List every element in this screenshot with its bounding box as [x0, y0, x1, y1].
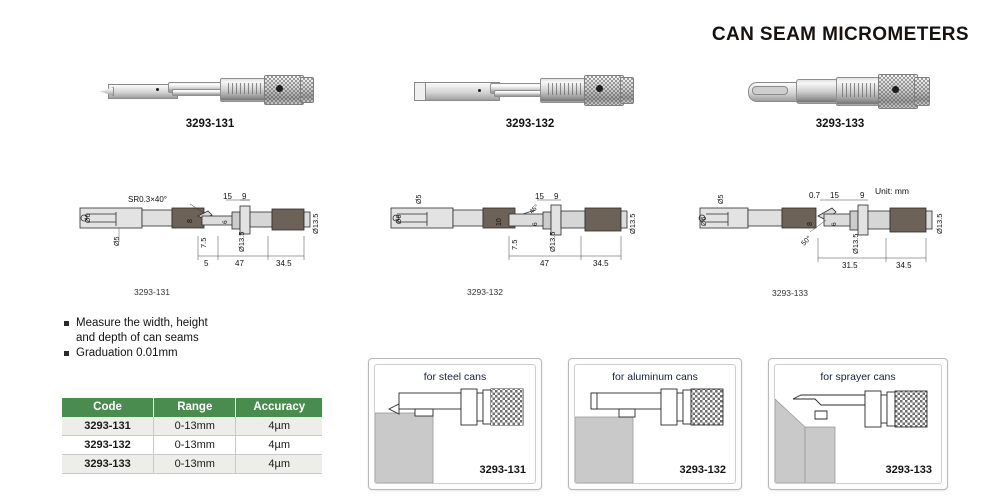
svg-text:7.5: 7.5: [510, 240, 519, 250]
technical-drawing-3293-133: Ø6 Ø5 0.7 15 9 31.5 34.5 8: [690, 186, 955, 298]
feature-text-line2: and depth of can seams: [76, 331, 312, 346]
svg-text:Ø13.5: Ø13.5: [628, 214, 637, 234]
svg-text:SR0.3×40°: SR0.3×40°: [128, 195, 167, 204]
cell-code: 3293-133: [62, 455, 154, 474]
svg-text:45°: 45°: [528, 203, 541, 216]
unit-note: Unit: mm: [875, 186, 909, 196]
cell-code: 3293-131: [62, 417, 154, 436]
application-panel-steel-cans: for steel cans: [368, 358, 542, 490]
feature-text: Graduation 0.01mm: [76, 347, 178, 359]
technical-drawing-3293-132: Ø6 Ø5 15 9 47 34.5 10 7.5 45°: [385, 190, 640, 297]
column-header-range: Range: [154, 398, 236, 417]
svg-text:Ø13.5: Ø13.5: [935, 214, 944, 234]
specification-table: Code Range Accuracy 3293-131 0-13mm 4µm …: [62, 398, 322, 474]
svg-text:Ø13.5: Ø13.5: [311, 214, 320, 234]
cell-range: 0-13mm: [154, 455, 236, 474]
svg-text:0.7: 0.7: [809, 191, 821, 200]
table-row: 3293-131 0-13mm 4µm: [62, 417, 322, 436]
svg-text:34.5: 34.5: [896, 261, 912, 270]
cell-accuracy: 4µm: [236, 455, 322, 474]
svg-text:Ø6: Ø6: [701, 217, 708, 226]
svg-text:8: 8: [807, 222, 814, 226]
svg-text:6: 6: [532, 222, 539, 226]
svg-text:5: 5: [204, 259, 209, 268]
column-header-code: Code: [62, 398, 154, 417]
cell-accuracy: 4µm: [236, 436, 322, 455]
cell-accuracy: 4µm: [236, 417, 322, 436]
svg-text:7.5: 7.5: [199, 238, 208, 248]
page-title: CAN SEAM MICROMETERS: [712, 24, 969, 46]
svg-text:10: 10: [496, 218, 503, 226]
svg-text:Ø13.5: Ø13.5: [237, 232, 246, 252]
svg-text:Ø5: Ø5: [416, 195, 423, 204]
svg-text:Ø13.5: Ø13.5: [548, 232, 557, 252]
svg-text:9: 9: [860, 191, 865, 200]
catalog-page: CAN SEAM MICROMETERS 3293-131: [0, 0, 987, 497]
svg-text:15: 15: [830, 191, 839, 200]
panel-code: 3293-131: [480, 464, 527, 476]
panel-code: 3293-133: [886, 464, 933, 476]
svg-text:9: 9: [554, 192, 559, 201]
bullet-icon: [64, 321, 69, 326]
svg-text:34.5: 34.5: [276, 259, 292, 268]
product-photo-3293-133: [690, 58, 987, 148]
table-row: 3293-133 0-13mm 4µm: [62, 455, 322, 474]
feature-item: Measure the width, height and depth of c…: [62, 316, 312, 345]
table-header-row: Code Range Accuracy: [62, 398, 322, 417]
panel-code: 3293-132: [680, 464, 727, 476]
feature-text: Measure the width, height: [76, 317, 208, 329]
product-photo-3293-131: [60, 58, 360, 148]
panel-title: for aluminum cans: [575, 371, 735, 383]
svg-text:Ø6: Ø6: [396, 215, 403, 224]
column-header-accuracy: Accuracy: [236, 398, 322, 417]
svg-text:34.5: 34.5: [593, 259, 609, 268]
product-photo-3293-132: [380, 58, 680, 148]
svg-text:50°: 50°: [800, 234, 813, 247]
cell-code: 3293-132: [62, 436, 154, 455]
cell-range: 0-13mm: [154, 417, 236, 436]
svg-text:8: 8: [187, 219, 194, 223]
svg-text:Ø6: Ø6: [85, 214, 92, 223]
bullet-icon: [64, 351, 69, 356]
application-panel-aluminum-cans: for aluminum cans: [568, 358, 742, 490]
svg-text:15: 15: [535, 192, 544, 201]
svg-text:47: 47: [235, 259, 244, 268]
svg-text:9: 9: [242, 192, 247, 201]
svg-text:31.5: 31.5: [842, 261, 858, 270]
svg-text:Ø13.5: Ø13.5: [851, 234, 860, 254]
svg-text:15: 15: [223, 192, 232, 201]
product-label-3293-133: 3293-133: [690, 118, 987, 130]
panel-title: for steel cans: [375, 371, 535, 383]
technical-drawing-3293-131: Ø6 Ø5 SR0.3×40° 5 47: [72, 190, 322, 297]
feature-list: Measure the width, height and depth of c…: [62, 316, 312, 362]
product-label-3293-132: 3293-132: [380, 118, 680, 130]
drawing-caption-3293-132: 3293-132: [385, 287, 585, 297]
application-panel-sprayer-cans: for sprayer cans: [768, 358, 948, 490]
feature-item: Graduation 0.01mm: [62, 346, 312, 361]
drawing-caption-3293-131: 3293-131: [72, 287, 232, 297]
cell-range: 0-13mm: [154, 436, 236, 455]
svg-text:6: 6: [222, 220, 229, 224]
svg-text:6: 6: [831, 222, 838, 226]
drawing-caption-3293-133: 3293-133: [690, 288, 890, 298]
product-label-3293-131: 3293-131: [60, 118, 360, 130]
svg-text:Ø5: Ø5: [114, 237, 121, 246]
panel-title: for sprayer cans: [775, 371, 941, 383]
svg-text:Ø5: Ø5: [718, 195, 725, 204]
table-row: 3293-132 0-13mm 4µm: [62, 436, 322, 455]
svg-text:47: 47: [540, 259, 549, 268]
